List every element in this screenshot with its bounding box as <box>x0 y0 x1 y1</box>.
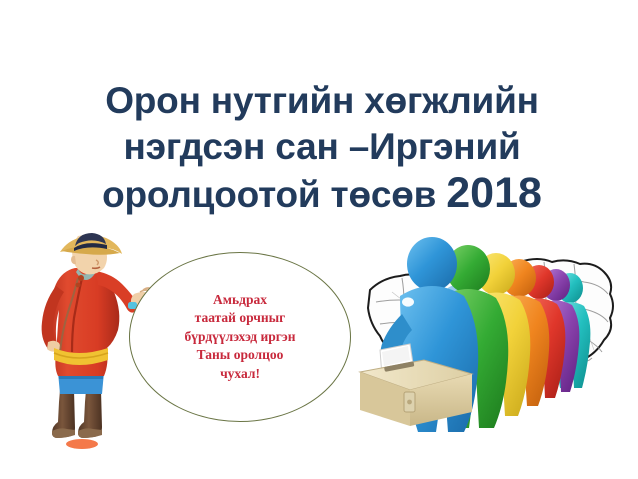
title-line-3: оролцоотой төсөв 2018 <box>52 170 592 218</box>
ballot-box-voters-map-illustration <box>352 232 638 432</box>
voting-scene-svg <box>352 232 638 432</box>
title-line-1: Орон нутгийн хөгжлийн <box>52 78 592 124</box>
title-year: 2018 <box>446 169 542 217</box>
title-line-2: нэгдсэн сан –Иргэний <box>52 124 592 170</box>
bubble-line-1: Амьдрах <box>213 291 267 310</box>
bubble-line-2: таатай орчныг <box>195 309 286 328</box>
bubble-line-4: Таны оролцоо <box>197 346 284 365</box>
ground-accent <box>66 439 98 449</box>
speech-bubble-text: Амьдрах таатай орчныг бүрдүүлэхэд иргэн … <box>130 253 350 421</box>
deel-button-2 <box>76 283 81 288</box>
title-line-3-text: оролцоотой төсөв <box>102 174 446 215</box>
bubble-line-3: бүрдүүлэхэд иргэн <box>185 328 296 347</box>
speech-bubble: Амьдрах таатай орчныг бүрдүүлэхэд иргэн … <box>129 252 351 422</box>
ballot-box-lock <box>407 400 412 405</box>
bubble-line-5: чухал! <box>220 365 260 384</box>
left-boot-toe <box>52 428 75 438</box>
right-boot-toe <box>78 428 102 438</box>
blue-figure-shoulder-highlight <box>402 297 414 306</box>
slide-title: Орон нутгийн хөгжлийн нэгдсэн сан –Иргэн… <box>52 78 592 218</box>
presentation-slide: Орон нутгийн хөгжлийн нэгдсэн сан –Иргэн… <box>0 0 638 479</box>
deel-knot-button <box>78 275 84 281</box>
